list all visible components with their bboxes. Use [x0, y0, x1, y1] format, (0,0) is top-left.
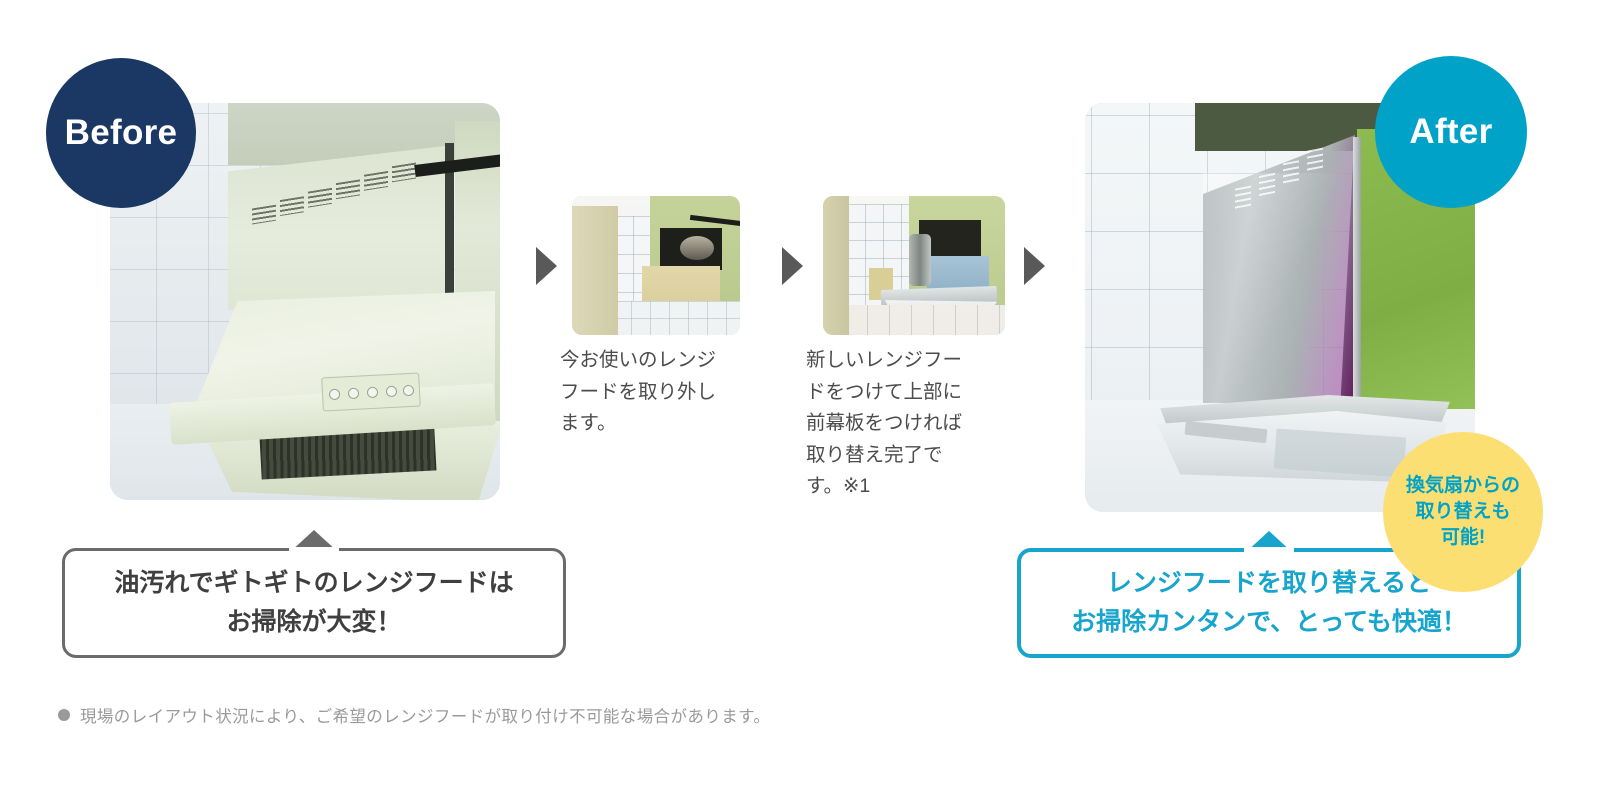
before-badge: Before — [46, 58, 196, 208]
arrow-right-icon — [536, 247, 557, 285]
before-badge-label: Before — [65, 113, 178, 153]
step-2-photo — [823, 196, 1005, 335]
after-callout-line-1: レンジフードを取り替えると — [1107, 564, 1431, 603]
hood-control-panel — [321, 372, 421, 411]
after-hood-reflection — [1203, 173, 1355, 403]
step2-left-cabinet — [823, 196, 849, 335]
step2-counter — [845, 305, 1005, 335]
before-callout-line-2: お掃除が大変！ — [226, 603, 401, 642]
before-callout-line-1: 油汚れでギトギトのレンジフードは — [114, 564, 513, 603]
step-1-caption: 今お使いのレンジフードを取り外します。 — [560, 345, 720, 440]
footnote-text: 現場のレイアウト状況により、ご希望のレンジフードが取り付け不可能な場合があります… — [80, 703, 770, 727]
step2-duct — [909, 234, 931, 286]
after-hood-trim — [1353, 137, 1361, 409]
step-2-caption: 新しいレンジフードをつけて上部に前幕板をつければ取り替え完了です。※1 — [806, 345, 966, 503]
before-callout: 油汚れでギトギトのレンジフードは お掃除が大変！ — [62, 548, 566, 658]
note-badge-line-1: 換気扇からの — [1406, 473, 1520, 499]
step1-counter — [612, 301, 740, 335]
callout-pointer-mask — [1244, 547, 1294, 558]
after-badge-label: After — [1409, 112, 1492, 152]
arrow-right-icon — [782, 247, 803, 285]
step-1-photo — [572, 196, 740, 335]
callout-pointer-mask — [289, 547, 339, 556]
arrow-right-icon — [1024, 247, 1045, 285]
note-badge-line-2: 取り替えも — [1415, 499, 1510, 525]
note-badge: 換気扇からの 取り替えも 可能! — [1383, 432, 1543, 592]
after-badge: After — [1375, 56, 1527, 208]
step1-left-cabinet — [572, 206, 618, 335]
footnote: 現場のレイアウト状況により、ご希望のレンジフードが取り付け不可能な場合があります… — [58, 703, 770, 727]
bullet-icon — [58, 709, 70, 721]
after-callout-line-2: お掃除カンタンで、とっても快適！ — [1071, 603, 1467, 642]
step1-duct — [680, 236, 714, 260]
note-badge-line-3: 可能! — [1441, 525, 1485, 551]
comparison-graphic: Before 今お使いのレンジフードを取り外します。 新しいレンジフードをつけて… — [0, 0, 1600, 800]
